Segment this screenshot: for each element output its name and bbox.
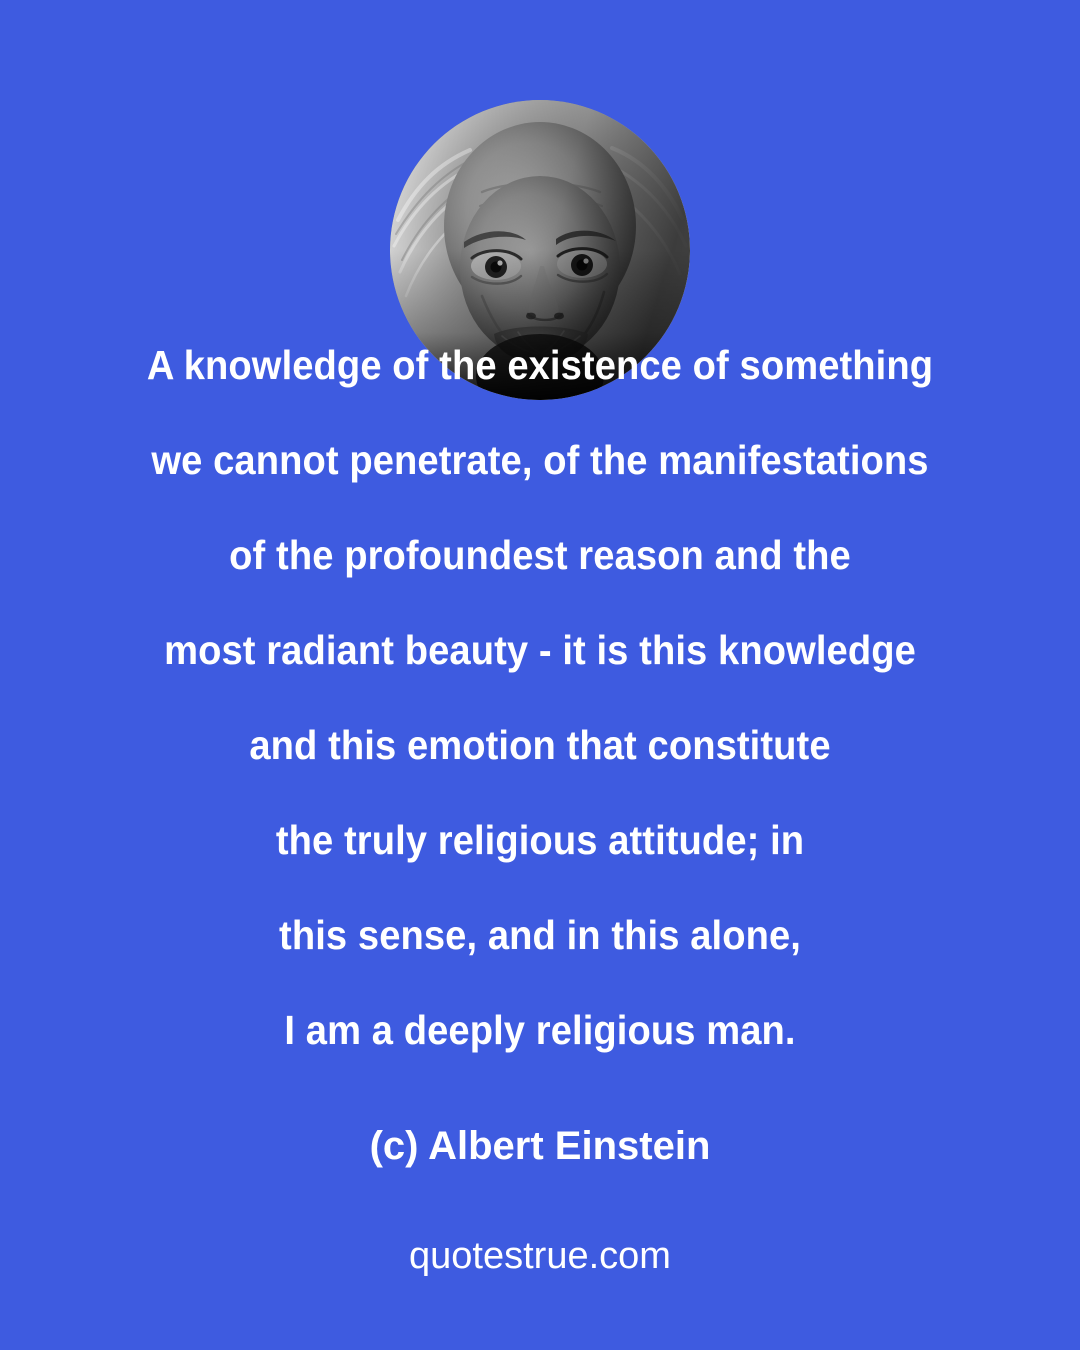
quote-line: A knowledge of the existence of somethin… bbox=[66, 318, 1015, 413]
quote-line: we cannot penetrate, of the manifestatio… bbox=[66, 413, 1015, 508]
quote-text: A knowledge of the existence of somethin… bbox=[0, 318, 1080, 1078]
quote-line: this sense, and in this alone, bbox=[66, 888, 1015, 983]
quote-line: most radiant beauty - it is this knowled… bbox=[66, 603, 1015, 698]
quote-line: of the profoundest reason and the bbox=[66, 508, 1015, 603]
quote-attribution: (c) Albert Einstein bbox=[0, 1120, 1080, 1172]
site-watermark: quotestrue.com bbox=[0, 1231, 1080, 1281]
quote-line: the truly religious attitude; in bbox=[66, 793, 1015, 888]
quote-card: A knowledge of the existence of somethin… bbox=[0, 0, 1080, 1350]
quote-line: I am a deeply religious man. bbox=[66, 983, 1015, 1078]
quote-line: and this emotion that constitute bbox=[66, 698, 1015, 793]
